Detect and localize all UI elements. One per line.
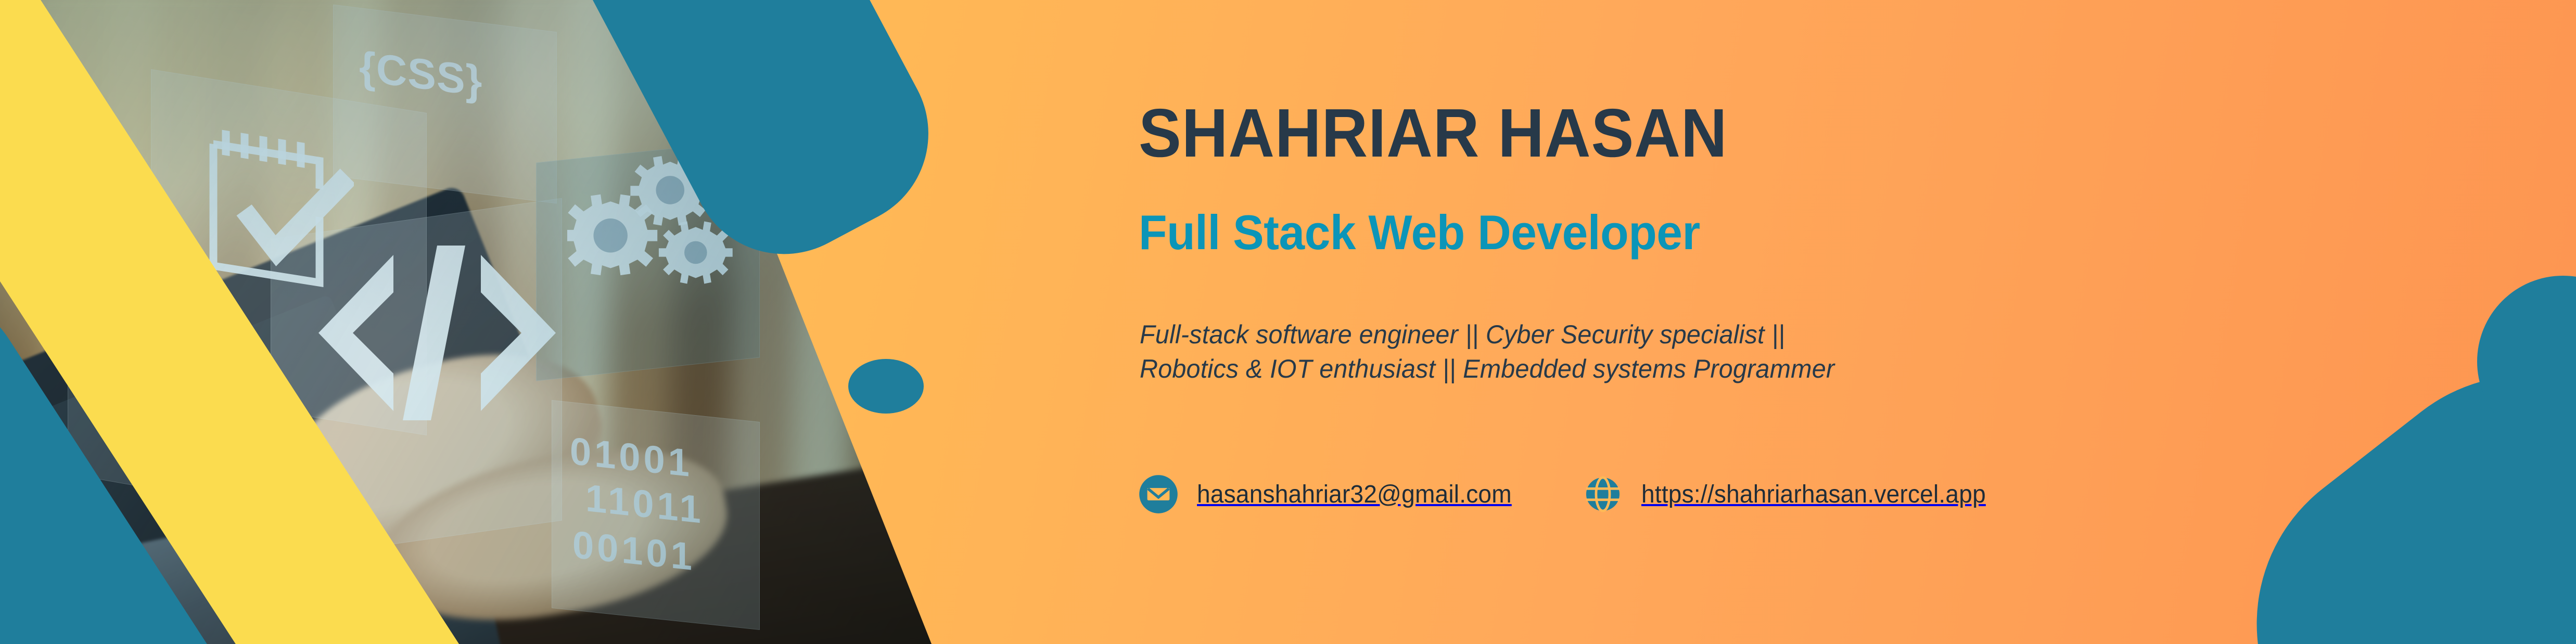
email-icon <box>1139 474 1178 514</box>
contact-website[interactable]: https://shahriarhasan.vercel.app <box>1583 474 2000 514</box>
tagline-line-1: Full-stack software engineer || Cyber Se… <box>1140 317 1834 352</box>
banner-content: SHAHRIAR HASAN Full Stack Web Developer … <box>1139 0 2336 644</box>
contact-email[interactable]: hasanshahriar32@gmail.com <box>1139 474 1525 514</box>
tagline-line-2: Robotics & IOT enthusiast || Embedded sy… <box>1140 352 1834 386</box>
job-title: Full Stack Web Developer <box>1139 208 1700 257</box>
globe-icon <box>1583 474 1623 514</box>
contact-website-label: https://shahriarhasan.vercel.app <box>1641 480 1986 509</box>
teal-exclamation-dot <box>848 359 924 414</box>
person-name: SHAHRIAR HASAN <box>1139 99 1728 168</box>
tagline: Full-stack software engineer || Cyber Se… <box>1140 317 1834 386</box>
contact-email-label: hasanshahriar32@gmail.com <box>1197 480 1512 509</box>
contact-row: hasanshahriar32@gmail.com https://shahri… <box>1139 474 2000 514</box>
profile-banner: {CSS} 01001 11011 00101 <box>0 0 2576 644</box>
